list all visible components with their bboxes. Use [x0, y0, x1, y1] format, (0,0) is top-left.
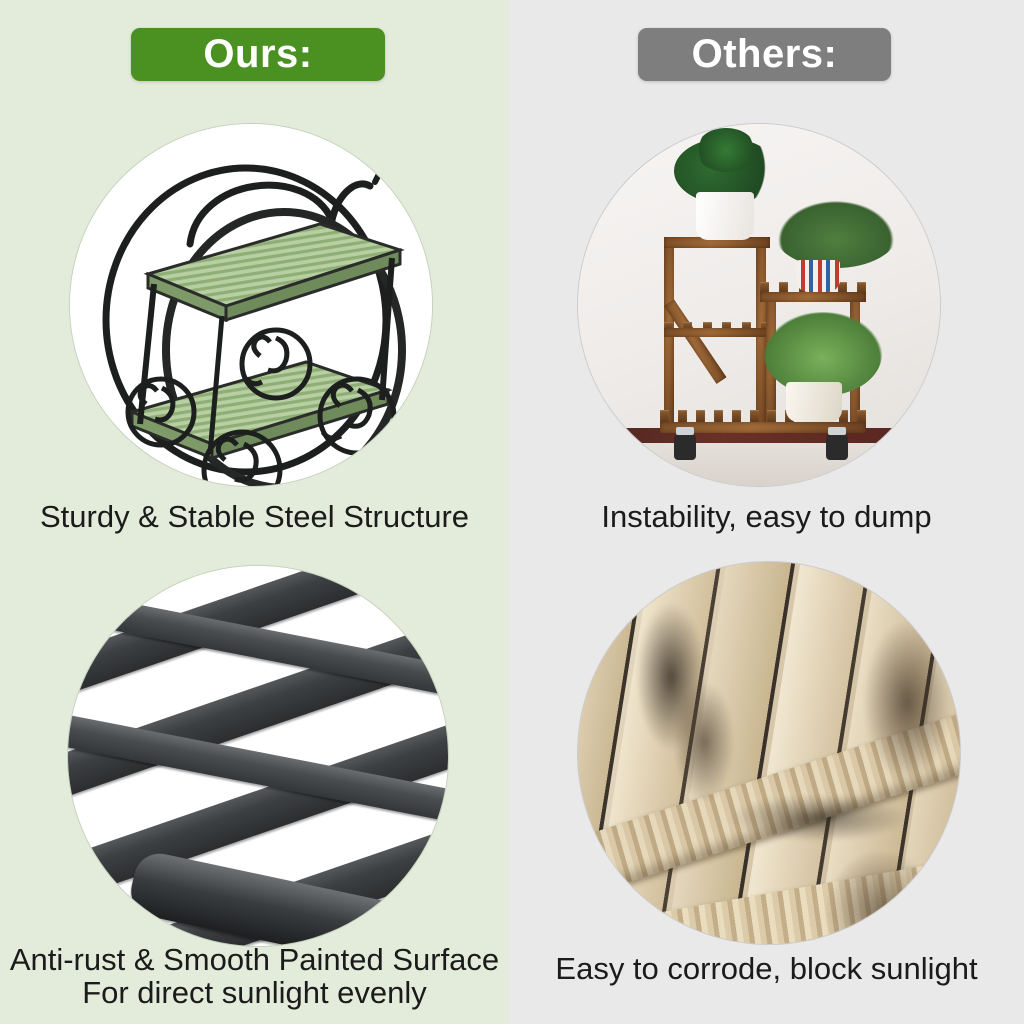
- slat: [750, 410, 759, 422]
- slat: [678, 410, 687, 422]
- others-surface-photo: [578, 562, 960, 944]
- rotten-wood-illustration: [578, 562, 960, 944]
- slat: [660, 410, 669, 422]
- caster-wheel-left: [674, 434, 696, 460]
- mold-stain: [864, 622, 950, 782]
- steel-slats-illustration: [68, 566, 448, 946]
- stand-mid-rail: [664, 328, 770, 337]
- floor: [578, 443, 940, 486]
- slat: [732, 410, 741, 422]
- comparison-board: Ours: Others:: [0, 0, 1024, 1024]
- ours-structure-photo: [70, 124, 432, 486]
- ours-header-label: Ours:: [203, 32, 312, 77]
- middle-plant-foliage: [774, 198, 898, 268]
- caster-wheel-right: [826, 434, 848, 460]
- metal-plant-cart-illustration: [70, 124, 432, 486]
- striped-pot: [796, 260, 840, 292]
- others-structure-photo: [578, 124, 940, 486]
- ours-surface-photo: [68, 566, 448, 946]
- ours-surface-caption-line1: Anti-rust & Smooth Painted Surface: [0, 943, 509, 976]
- ours-header-badge: Ours:: [131, 28, 385, 81]
- others-header-badge: Others:: [638, 28, 891, 81]
- cream-pot: [786, 382, 842, 422]
- others-surface-caption: Easy to corrode, block sunlight: [509, 952, 1024, 985]
- slat: [767, 410, 776, 422]
- white-pot: [696, 192, 754, 240]
- others-structure-caption: Instability, easy to dump: [509, 500, 1024, 533]
- stand-right-shelf-rail: [760, 292, 866, 302]
- ours-structure-caption: Sturdy & Stable Steel Structure: [0, 500, 509, 533]
- mold-stain: [674, 682, 734, 802]
- slat: [696, 410, 705, 422]
- wooden-plant-stand-illustration: [578, 124, 940, 486]
- slat: [714, 410, 723, 422]
- ours-surface-caption-line2: For direct sunlight evenly: [0, 976, 509, 1009]
- slat: [857, 410, 866, 422]
- ours-surface-caption: Anti-rust & Smooth Painted Surface For d…: [0, 943, 509, 1009]
- others-header-label: Others:: [692, 32, 838, 77]
- mold-stain: [728, 794, 908, 842]
- top-plant-foliage-2: [696, 128, 756, 172]
